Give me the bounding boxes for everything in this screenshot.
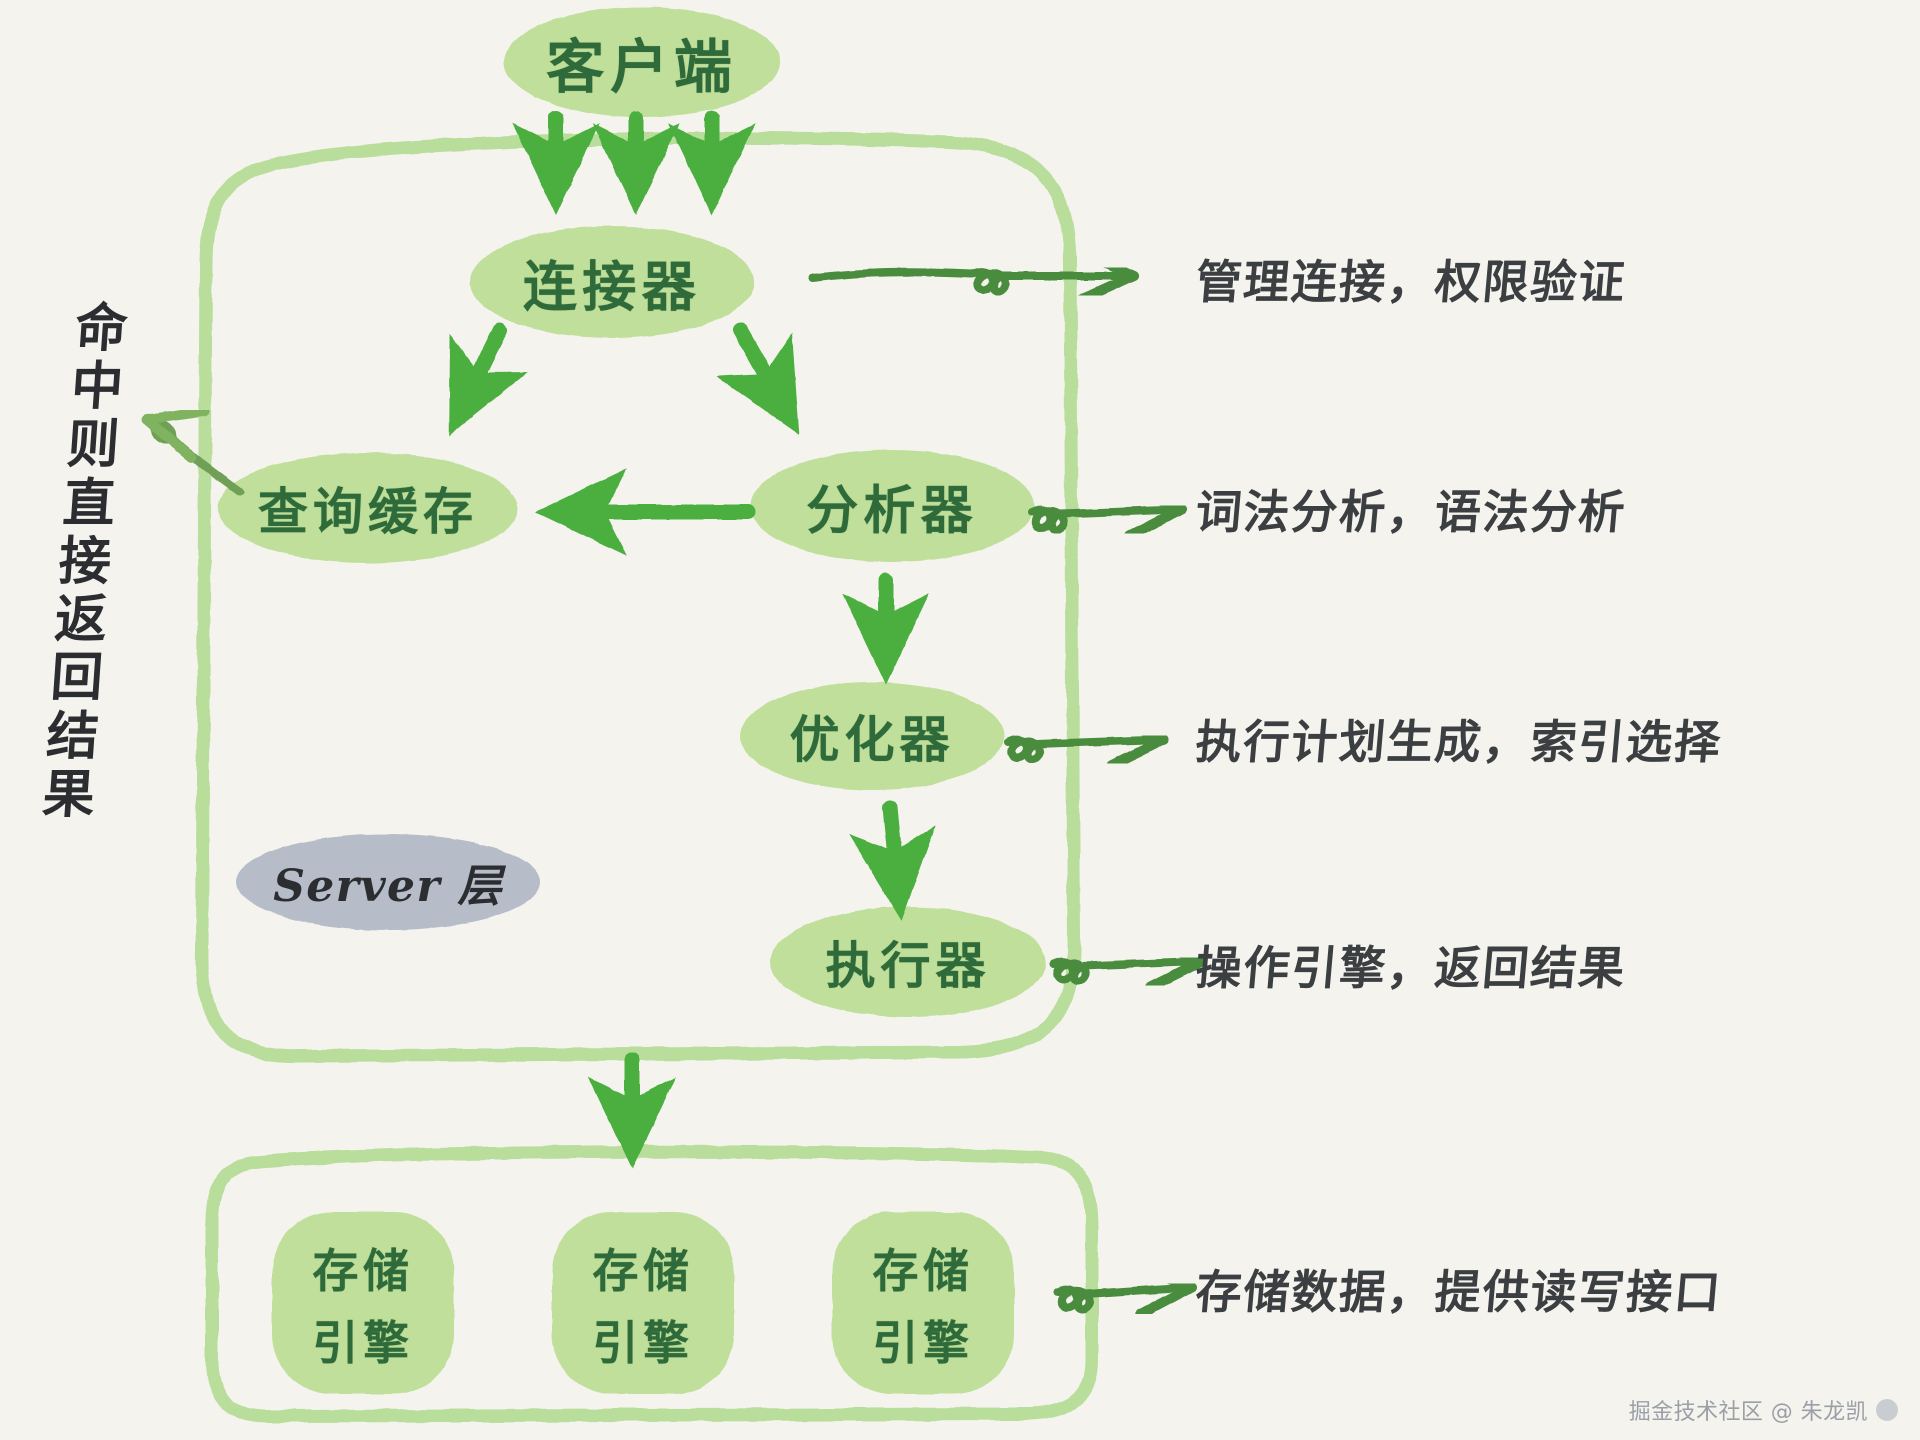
server-layer-tag: Server 层 xyxy=(273,850,503,914)
cache-hit-note-char-4: 直 xyxy=(48,475,130,533)
diagram-canvas: 客户端 连接器 查询缓存 分析器 优化器 执行器 存储 引擎 存储 引擎 存储 … xyxy=(0,0,1920,1440)
cache-hit-note-char-3: 则 xyxy=(52,416,134,474)
cache-hit-note-char-8: 结 xyxy=(32,708,114,766)
annotation-analyzer: 词法分析，语法分析 xyxy=(1193,476,1629,542)
watermark-text: 掘金技术社区 @ 朱龙凯 xyxy=(1629,1394,1868,1426)
node-shapes xyxy=(218,7,1046,1394)
cache-hit-note-char-6: 返 xyxy=(40,591,122,649)
cache-hit-note-char-2: 中 xyxy=(56,358,138,416)
annotation-connector: 管理连接，权限验证 xyxy=(1193,246,1629,312)
cache-hit-note-char-1: 命 xyxy=(60,300,142,358)
cache-hit-note-char-7: 回 xyxy=(36,649,118,707)
watermark: 掘金技术社区 @ 朱龙凯 xyxy=(1629,1394,1898,1426)
cache-hit-note-char-9: 果 xyxy=(28,766,110,824)
cache-hit-note-char-5: 接 xyxy=(44,533,126,591)
annotation-storage: 存储数据，提供读写接口 xyxy=(1193,1256,1725,1322)
annotation-executor: 操作引擎，返回结果 xyxy=(1193,932,1629,998)
watermark-avatar-icon xyxy=(1876,1399,1898,1421)
annotation-optimizer: 执行计划生成，索引选择 xyxy=(1193,706,1725,772)
